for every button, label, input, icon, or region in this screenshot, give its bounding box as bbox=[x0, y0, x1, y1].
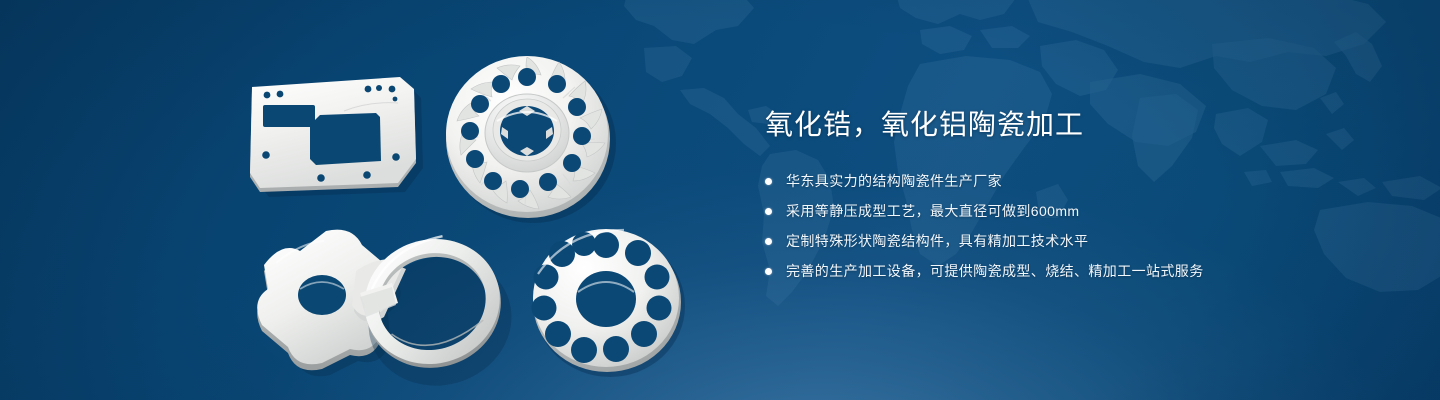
feature-list: 华东具实力的结构陶瓷件生产厂家 采用等静压成型工艺，最大直径可做到600mm 定… bbox=[765, 170, 1325, 283]
ceramic-perforated-disc bbox=[520, 222, 700, 382]
list-item: 采用等静压成型工艺，最大直径可做到600mm bbox=[765, 200, 1325, 223]
bullet-dot-icon bbox=[765, 238, 772, 245]
list-item: 完善的生产加工设备，可提供陶瓷成型、烧结、精加工一站式服务 bbox=[765, 260, 1325, 283]
product-image-group bbox=[230, 30, 710, 380]
ceramic-impeller-disc bbox=[435, 47, 625, 227]
ceramic-ring bbox=[348, 225, 518, 390]
hero-copy: 氧化锆，氧化铝陶瓷加工 华东具实力的结构陶瓷件生产厂家 采用等静压成型工艺，最大… bbox=[765, 108, 1325, 290]
bullet-dot-icon bbox=[765, 208, 772, 215]
feature-text: 定制特殊形状陶瓷结构件，具有精加工技术水平 bbox=[786, 230, 1088, 253]
ceramic-plate-with-cutouts bbox=[248, 73, 428, 193]
feature-text: 采用等静压成型工艺，最大直径可做到600mm bbox=[786, 200, 1079, 223]
feature-text: 华东具实力的结构陶瓷件生产厂家 bbox=[786, 170, 1002, 193]
list-item: 定制特殊形状陶瓷结构件，具有精加工技术水平 bbox=[765, 230, 1325, 253]
bullet-dot-icon bbox=[765, 268, 772, 275]
feature-text: 完善的生产加工设备，可提供陶瓷成型、烧结、精加工一站式服务 bbox=[786, 260, 1204, 283]
hero-banner: 氧化锆，氧化铝陶瓷加工 华东具实力的结构陶瓷件生产厂家 采用等静压成型工艺，最大… bbox=[0, 0, 1440, 400]
list-item: 华东具实力的结构陶瓷件生产厂家 bbox=[765, 170, 1325, 193]
page-title: 氧化锆，氧化铝陶瓷加工 bbox=[765, 108, 1325, 142]
bullet-dot-icon bbox=[765, 178, 772, 185]
